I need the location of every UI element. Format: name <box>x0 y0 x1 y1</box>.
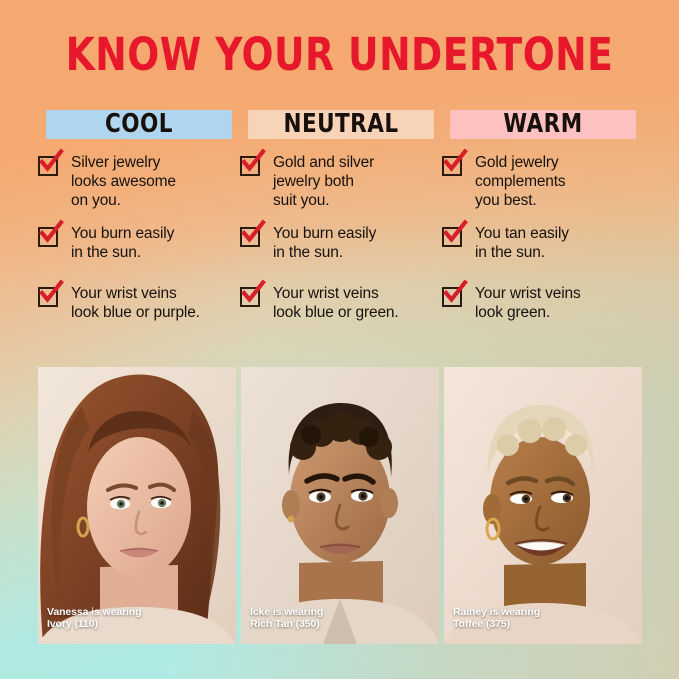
check-icon <box>240 227 260 247</box>
portrait-illustration <box>241 367 439 644</box>
list-item-label: You burn easily in the sun. <box>273 225 376 261</box>
list-item: Gold jewelry complements you best. <box>442 153 636 210</box>
list-item-label: Silver jewelry looks awesome on you. <box>71 154 176 209</box>
column-header-cool: COOL <box>46 110 232 139</box>
undertone-column-neutral: NEUTRAL Gold and silver jewelry both sui… <box>240 110 442 330</box>
column-header-neutral: NEUTRAL <box>248 110 434 139</box>
photo-caption: Rainey is wearing Toffee (375) <box>453 606 540 630</box>
model-photo-neutral: Icke is wearing Rich Tan (350) <box>241 367 439 644</box>
list-item-label: Your wrist veins look green. <box>475 285 581 321</box>
check-icon <box>442 156 462 176</box>
model-photo-row: Vanessa is wearing Ivory (110) <box>38 367 642 644</box>
check-icon <box>38 287 58 307</box>
list-item-label: Your wrist veins look blue or purple. <box>71 285 200 321</box>
check-icon <box>240 156 260 176</box>
model-photo-cool: Vanessa is wearing Ivory (110) <box>38 367 236 644</box>
list-item: You burn easily in the sun. <box>240 224 434 270</box>
infographic-root: KNOW YOUR UNDERTONE COOL Silver jewelry … <box>0 0 679 679</box>
list-item: Silver jewelry looks awesome on you. <box>38 153 232 210</box>
list-item-label: Gold and silver jewelry both suit you. <box>273 154 374 209</box>
list-item-label: Your wrist veins look blue or green. <box>273 285 399 321</box>
list-item: Your wrist veins look blue or purple. <box>38 284 232 330</box>
list-item: Gold and silver jewelry both suit you. <box>240 153 434 210</box>
checklist-warm: Gold jewelry complements you best. You t… <box>442 153 644 330</box>
portrait-illustration <box>444 367 642 644</box>
undertone-column-cool: COOL Silver jewelry looks awesome on you… <box>38 110 240 330</box>
column-header-warm: WARM <box>450 110 636 139</box>
check-icon <box>38 156 58 176</box>
list-item-label: You burn easily in the sun. <box>71 225 174 261</box>
photo-caption: Vanessa is wearing Ivory (110) <box>47 606 142 630</box>
check-icon <box>240 287 260 307</box>
checklist-neutral: Gold and silver jewelry both suit you. Y… <box>240 153 442 330</box>
check-icon <box>442 287 462 307</box>
list-item: You burn easily in the sun. <box>38 224 232 270</box>
list-item: Your wrist veins look green. <box>442 284 636 330</box>
undertone-column-warm: WARM Gold jewelry complements you best. … <box>442 110 644 330</box>
check-icon <box>442 227 462 247</box>
checklist-cool: Silver jewelry looks awesome on you. You… <box>38 153 240 330</box>
list-item-label: Gold jewelry complements you best. <box>475 154 566 209</box>
list-item-label: You tan easily in the sun. <box>475 225 569 261</box>
photo-caption: Icke is wearing Rich Tan (350) <box>250 606 323 630</box>
check-icon <box>38 227 58 247</box>
model-photo-warm: Rainey is wearing Toffee (375) <box>444 367 642 644</box>
page-title: KNOW YOUR UNDERTONE <box>24 30 655 80</box>
list-item: You tan easily in the sun. <box>442 224 636 270</box>
list-item: Your wrist veins look blue or green. <box>240 284 434 330</box>
portrait-illustration <box>38 367 236 644</box>
